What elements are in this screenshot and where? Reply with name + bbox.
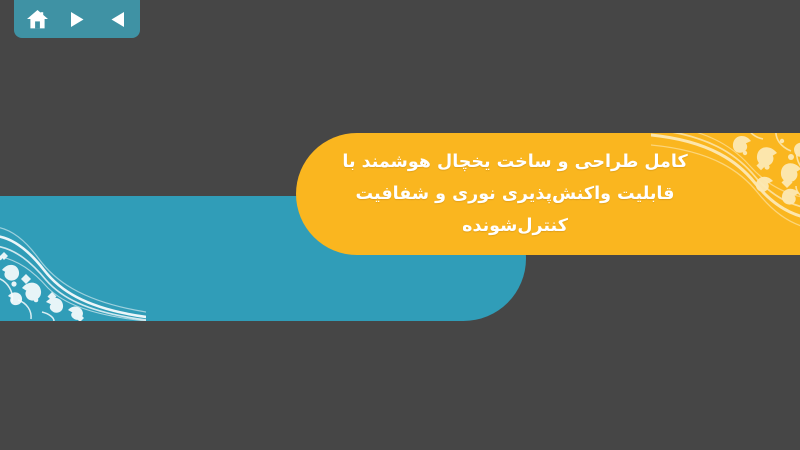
back-triangle-icon bbox=[110, 11, 125, 28]
previous-slide-button[interactable] bbox=[104, 7, 130, 31]
orange-headline-panel bbox=[296, 133, 800, 255]
teal-arabesque-ornament-icon bbox=[0, 196, 146, 321]
presentation-slide: کامل طراحی و ساخت یخچال هوشمند با قابلیت… bbox=[0, 0, 800, 450]
home-icon bbox=[27, 10, 48, 29]
navigation-toolbar bbox=[14, 0, 140, 38]
forward-triangle-icon bbox=[70, 11, 85, 28]
home-button[interactable] bbox=[24, 7, 50, 31]
next-slide-button[interactable] bbox=[64, 7, 90, 31]
orange-arabesque-ornament-icon bbox=[651, 133, 800, 255]
